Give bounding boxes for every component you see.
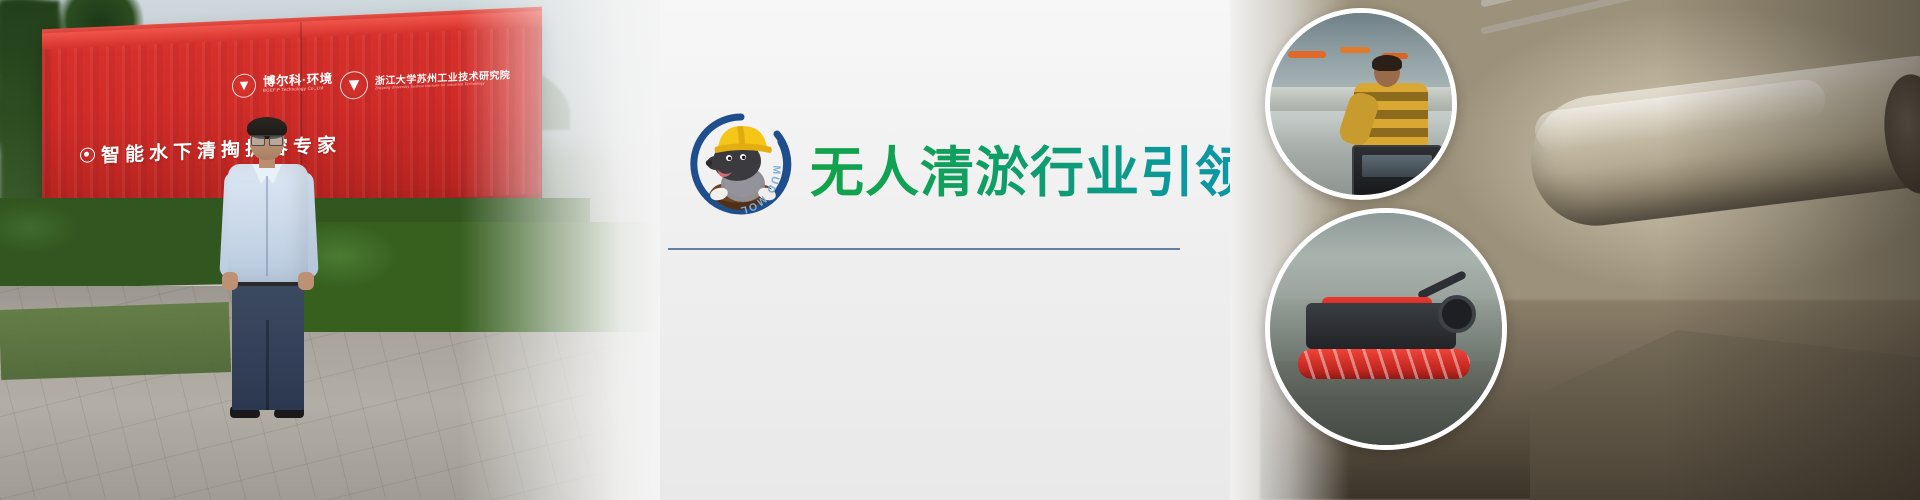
shirt	[228, 164, 308, 282]
dredging-robot-photo-circle	[1265, 208, 1507, 450]
right-vignette	[1660, 0, 1920, 500]
grass-strip	[0, 302, 231, 380]
partner-seal-icon	[340, 71, 368, 100]
eyeglasses-icon	[251, 135, 283, 144]
robot-chassis	[1306, 303, 1456, 349]
container-brand-en: BOEF.P Technology Co.,Ltd	[263, 86, 333, 94]
engineer-person	[214, 120, 324, 410]
right-hand	[298, 272, 314, 290]
container-brand-mark: 博尔科·环境 BOEF.P Technology Co.,Ltd	[232, 70, 333, 99]
robot-wheel	[1438, 295, 1476, 333]
shirt-placket	[266, 176, 268, 276]
orange-float-2	[1340, 47, 1370, 53]
left-hand	[222, 272, 238, 290]
mud-mole-logo: MUD MOLE	[685, 108, 797, 220]
robot-auger-head	[1298, 349, 1470, 379]
control-console-case	[1352, 145, 1442, 200]
operator-photo-circle	[1265, 8, 1457, 200]
left-photo: 博尔科·环境 BOEF.P Technology Co.,Ltd 浙江大学苏州工…	[0, 0, 660, 500]
hero-banner: 博尔科·环境 BOEF.P Technology Co.,Ltd 浙江大学苏州工…	[0, 0, 1920, 500]
center-content: MUD MOLE 无人清淤行业引领者	[660, 0, 1260, 500]
robot-water	[1270, 213, 1502, 299]
operator-person	[1348, 57, 1444, 197]
headline-divider	[668, 248, 1180, 250]
left-photo-fade	[460, 0, 660, 500]
slogan-bullet-icon	[80, 147, 95, 163]
brand-seal-icon	[232, 73, 256, 98]
dredging-robot	[1298, 297, 1478, 393]
orange-float-1	[1288, 51, 1326, 58]
trousers	[232, 284, 304, 410]
operator-hair	[1372, 55, 1402, 71]
